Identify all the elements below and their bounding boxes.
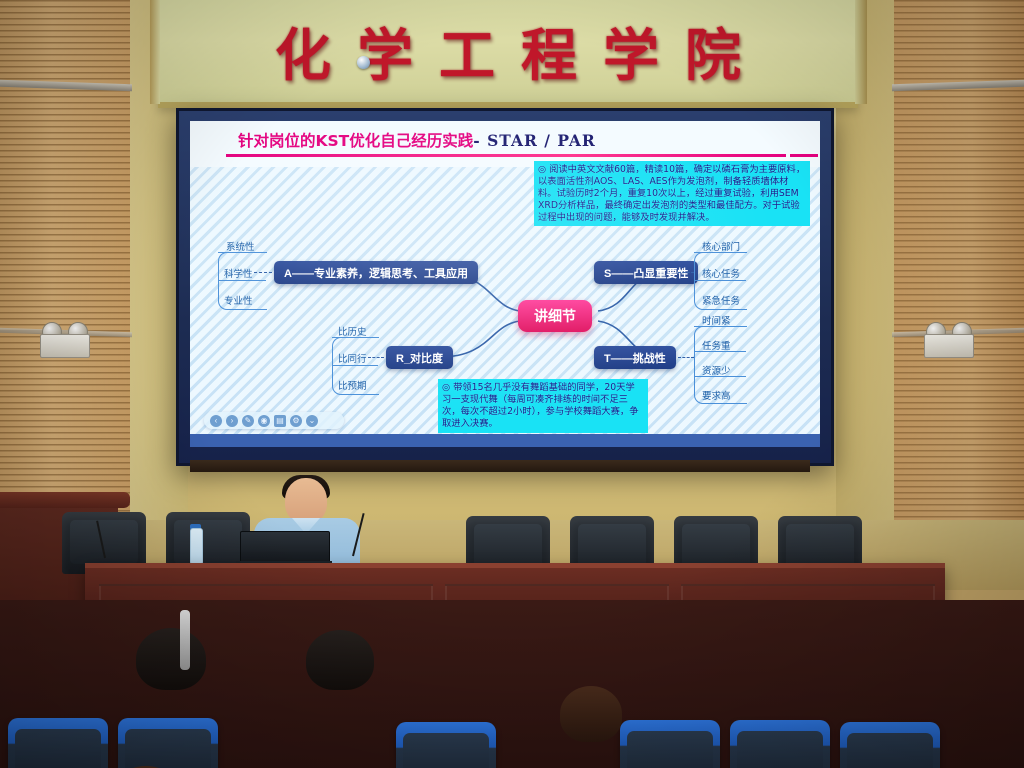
emergency-light-icon-left [36, 322, 94, 358]
audience-head [306, 630, 374, 690]
mindmap: A——专业素养，逻辑思考、工具应用 系统性 科学性 专业性 R_对比度 比历史 … [190, 121, 820, 447]
handrail [180, 610, 190, 670]
wood-wall-left [0, 0, 130, 520]
banner-edge-left [150, 0, 160, 104]
mindmap-sub-r-1: 比历史 [338, 324, 367, 338]
mindmap-subline-r-1 [332, 337, 378, 338]
banner-edge-right [855, 0, 867, 104]
mindmap-subline-t-3 [694, 376, 746, 377]
pointer-icon[interactable]: ◉ [258, 415, 270, 427]
mindmap-subline-r-2 [332, 365, 378, 366]
slides-icon[interactable]: ▤ [274, 415, 286, 427]
mindmap-dash-r [368, 357, 384, 358]
screen-surface: 针对岗位的KST优化自己经历实践- STAR / PAR ◎ 阅读中英文文献60… [190, 121, 820, 447]
next-icon[interactable]: › [226, 415, 238, 427]
mindmap-dash-a [254, 272, 272, 273]
options-icon[interactable]: ⚙ [290, 415, 302, 427]
presentation-slide: 针对岗位的KST优化自己经历实践- STAR / PAR ◎ 阅读中英文文献60… [190, 121, 820, 447]
audience-area [0, 600, 1024, 768]
prev-icon[interactable]: ‹ [210, 415, 222, 427]
mindmap-subline-t-1 [694, 326, 746, 327]
emergency-light-icon-right [920, 322, 978, 358]
water-bottle [190, 528, 203, 564]
mindmap-dash-s [678, 272, 694, 273]
seat [840, 722, 940, 768]
laptop-screen [240, 531, 330, 563]
audience-head [560, 686, 622, 742]
mindmap-sub-s-1: 核心部门 [702, 239, 740, 253]
projection-screen[interactable]: 针对岗位的KST优化自己经历实践- STAR / PAR ◎ 阅读中英文文献60… [176, 108, 834, 466]
seat [8, 718, 108, 768]
seat [118, 718, 218, 768]
seat [620, 720, 720, 768]
mindmap-center-node[interactable]: 讲细节 [518, 300, 592, 332]
mindmap-subline-a-2 [218, 280, 266, 281]
wood-wall-right [894, 0, 1024, 520]
collapse-icon[interactable]: ⌄ [306, 415, 318, 427]
seat [396, 722, 496, 768]
mindmap-subline-s-1 [694, 252, 746, 253]
mindmap-dash-t [678, 357, 694, 358]
podium-top [0, 492, 130, 508]
mindmap-node-r[interactable]: R_对比度 [386, 346, 453, 369]
hall-banner: 化学工程学院 [158, 0, 858, 108]
seat [730, 720, 830, 768]
mindmap-bracket-t [694, 326, 747, 404]
mindmap-node-a[interactable]: A——专业素养，逻辑思考、工具应用 [274, 261, 478, 284]
mindmap-sub-a-1: 系统性 [226, 239, 255, 253]
mindmap-subline-t-2 [694, 351, 746, 352]
slideshow-toolbar[interactable]: ‹ › ✎ ◉ ▤ ⚙ ⌄ [204, 412, 344, 429]
hall-banner-text: 化学工程学院 [249, 11, 767, 92]
mindmap-subline-s-2 [694, 280, 746, 281]
screen-stand [190, 460, 810, 472]
slide-footer-bar [190, 434, 820, 447]
lecture-hall-photo: 化学工程学院 针对岗位的KST优化自己经历实践- STAR / PAR [0, 0, 1024, 768]
audience-head [136, 628, 206, 690]
mindmap-sub-t-1: 时间紧 [702, 313, 731, 327]
ceiling-fixture-icon [357, 56, 370, 69]
mindmap-node-t[interactable]: T——挑战性 [594, 346, 676, 369]
mindmap-subline-a-1 [218, 252, 266, 253]
pen-icon[interactable]: ✎ [242, 415, 254, 427]
laptop [236, 531, 332, 565]
